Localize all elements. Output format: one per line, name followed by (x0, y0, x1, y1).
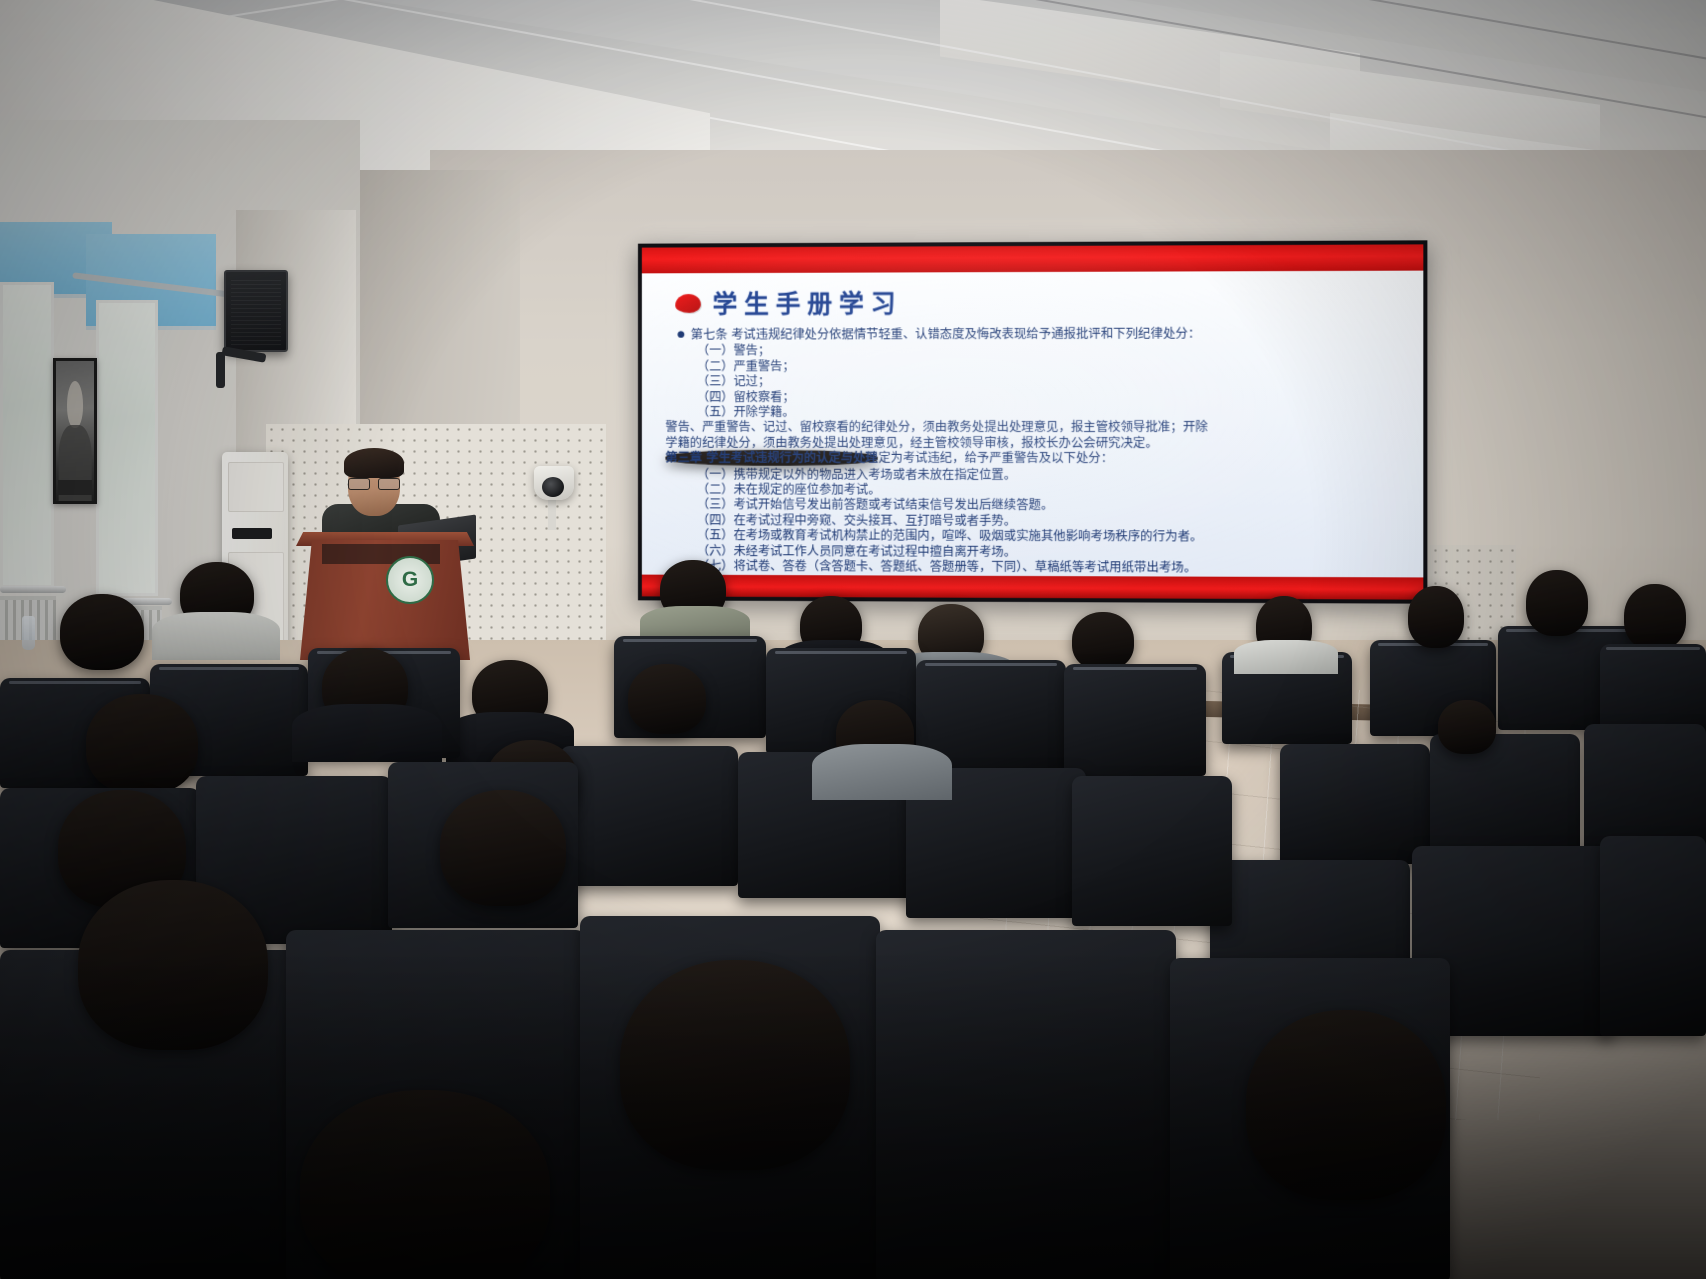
lecture-hall-photo: 学生手册学习 第七条 考试违规纪律处分依据情节轻重、认错态度及悔改表现给予通报批… (0, 0, 1706, 1279)
slide-content: 学生手册学习 第七条 考试违规纪律处分依据情节轻重、认错态度及悔改表现给予通报批… (642, 271, 1423, 578)
seat[interactable] (1064, 664, 1206, 776)
seat[interactable] (1072, 776, 1232, 926)
window (0, 282, 54, 588)
ptz-camera (534, 466, 574, 500)
audience-shoulders (152, 612, 280, 660)
slide-body: 第七条 考试违规纪律处分依据情节轻重、认错态度及悔改表现给予通报批评和下列纪律处… (663, 325, 1407, 576)
audience-head (620, 960, 850, 1170)
led-display-screen[interactable]: 学生手册学习 第七条 考试违规纪律处分依据情节轻重、认错态度及悔改表现给予通报批… (638, 240, 1427, 603)
speaker-mount-bracket (216, 352, 225, 388)
screen-top-trim (642, 244, 1423, 273)
slide-line: 第三章 学生考试违规行为的认定与处理 (665, 450, 877, 465)
slide-line: （二）未在规定的座位参加考试。 (697, 482, 1407, 499)
slide-line: （四）在考试过程中旁窥、交头接耳、互打暗号或者手势。 (697, 512, 1407, 529)
audience-head (300, 1090, 550, 1279)
window (96, 300, 158, 596)
podium-emblem: G (386, 556, 434, 604)
slide-line: （七）将试卷、答卷（含答题卡、答题纸、答题册等，下同）、草稿纸等考试用纸带出考场… (697, 558, 1407, 576)
audience-head (86, 694, 198, 794)
slide-line: （五）开除学籍。 (697, 404, 1407, 420)
slide-title: 学生手册学习 (713, 284, 903, 320)
audience-shoulders (812, 744, 952, 800)
glasses (348, 478, 400, 488)
audience-head (1438, 700, 1496, 754)
audience-head (1246, 1010, 1446, 1200)
slide-bullet-blob-icon (675, 294, 701, 313)
audience-head (1624, 584, 1686, 650)
seat[interactable] (1600, 836, 1706, 1036)
slide-line: 第七条 考试违规纪律处分依据情节轻重、认错态度及悔改表现给予通报批评和下列纪律处… (677, 325, 1407, 343)
audience-shoulders (292, 704, 442, 762)
water-bottle (22, 616, 35, 650)
slide-line: （一）携带规定以外的物品进入考场或者未放在指定位置。 (697, 466, 1407, 482)
screen-bottom-trim (642, 575, 1423, 600)
camera-mount-arm (548, 500, 556, 530)
audience-head (1072, 612, 1134, 670)
slide-line: （二）严重警告； (697, 357, 1407, 373)
audience-head (60, 594, 144, 670)
slide-line: 学籍的纪律处分，须由教务处提出处理意见，经主管校领导审核，报校长办公会研究决定。 (665, 435, 1407, 451)
audience-head (628, 664, 706, 734)
slide-line: （三）记过； (697, 373, 1407, 389)
audience-head (1526, 570, 1588, 636)
audience-head (78, 880, 268, 1050)
slide-line: （三）考试开始信号发出前答题或考试结束信号发出后继续答题。 (697, 497, 1407, 514)
framed-portrait (53, 358, 97, 504)
seat[interactable] (1280, 744, 1430, 864)
seat[interactable] (560, 746, 738, 886)
slide-line: （五）在考场或教育考试机构禁止的范围内，喧哗、吸烟或实施其他影响考场秩序的行为者… (697, 527, 1407, 544)
radiator-rail (0, 586, 66, 593)
wall-speaker (224, 270, 288, 352)
seat[interactable] (876, 930, 1176, 1279)
slide-line: （四）留校察看； (697, 388, 1407, 404)
slide-line: 警告、严重警告、记过、留校察看的纪律处分，须由教务处提出处理意见，报主管校领导批… (665, 419, 1407, 435)
audience-head (440, 790, 566, 906)
audience-head (1408, 586, 1464, 648)
slide-line: （一）警告； (697, 342, 1407, 359)
audience-shoulders (1234, 640, 1338, 674)
